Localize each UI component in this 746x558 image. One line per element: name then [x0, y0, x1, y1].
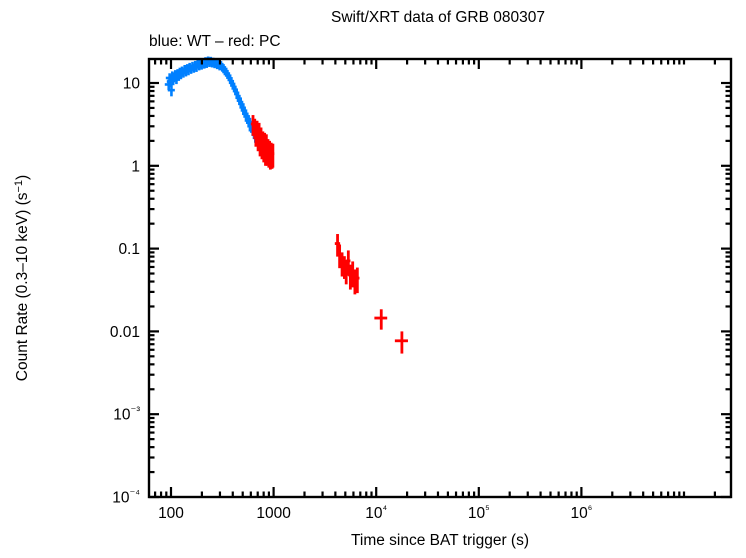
plot-background	[0, 0, 746, 558]
y-axis-title: Count Rate (0.3–10 keV) (s−1)	[13, 175, 31, 381]
x-tick-label: 1000	[256, 505, 291, 522]
y-tick-label: 0.01	[110, 324, 140, 341]
page-title: Swift/XRT data of GRB 080307	[331, 9, 545, 26]
x-axis-title: Time since BAT trigger (s)	[351, 532, 529, 549]
figure-canvas: Swift/XRT data of GRB 080307 blue: WT – …	[0, 0, 746, 558]
y-tick-label: 1	[131, 158, 140, 175]
y-tick-label: 10	[123, 76, 141, 93]
xrt-lightcurve-plot: Swift/XRT data of GRB 080307 blue: WT – …	[0, 0, 746, 558]
x-tick-label: 100	[158, 505, 184, 522]
legend-subtitle: blue: WT – red: PC	[149, 33, 281, 50]
y-axis-title-group: Count Rate (0.3–10 keV) (s−1)	[13, 175, 31, 381]
y-tick-label: 0.1	[118, 241, 140, 258]
